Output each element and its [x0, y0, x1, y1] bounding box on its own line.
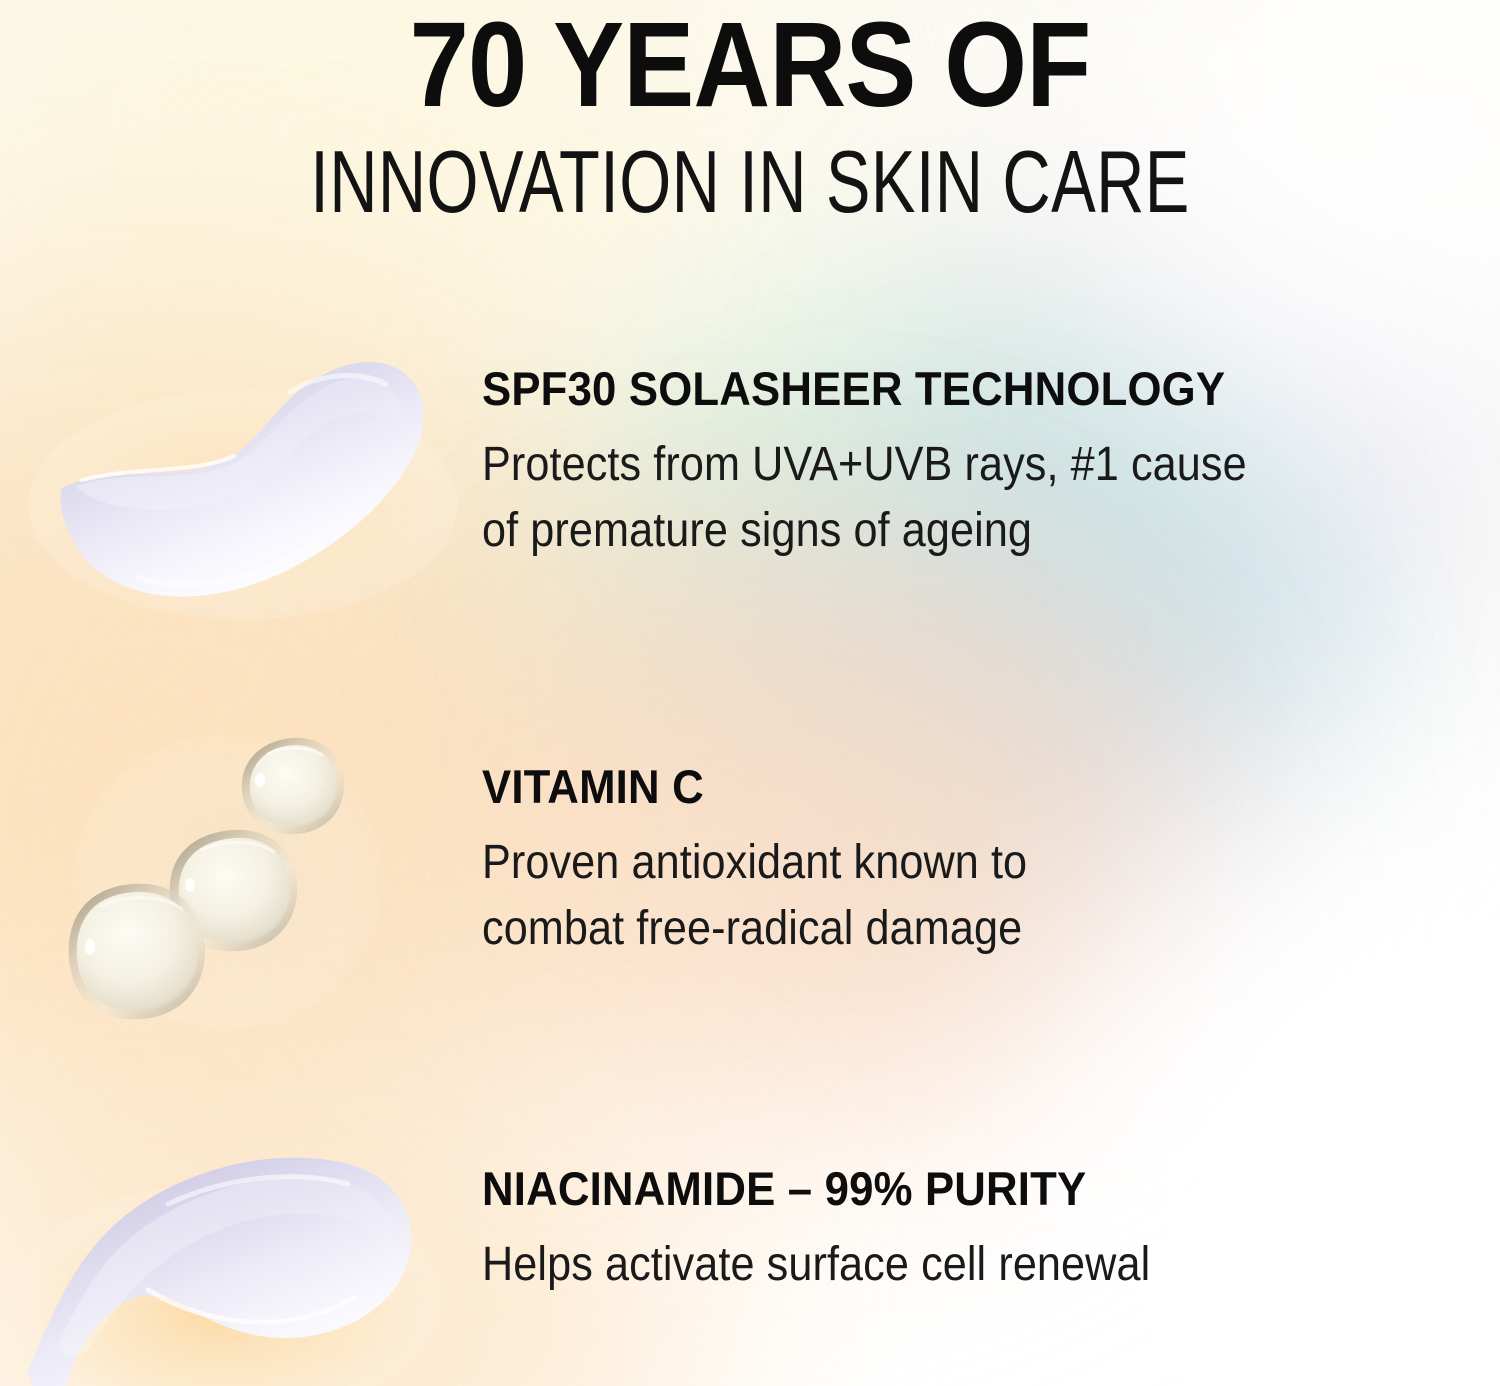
feature-desc-spf30: Protects from UVA+UVB rays, #1 cause of … — [482, 432, 1346, 564]
feature-row-1: SPF30 SOLASHEER TECHNOLOGY Protects from… — [482, 364, 1442, 564]
feature-desc-vitamin-c: Proven antioxidant known to combat free-… — [482, 830, 1292, 962]
droplet-top — [242, 738, 344, 834]
feature-desc-line: Proven antioxidant known to — [482, 830, 1292, 896]
feature-row-3: NIACINAMIDE – 99% PURITY Helps activate … — [482, 1164, 1382, 1298]
feature-desc-niacinamide: Helps activate surface cell renewal — [482, 1232, 1292, 1298]
feature-title-niacinamide: NIACINAMIDE – 99% PURITY — [482, 1164, 1319, 1214]
cream-swirl-swatch-1 — [18, 330, 458, 630]
promo-infographic: 70 YEARS OF INNOVATION IN SKIN CARE — [0, 0, 1500, 1386]
page-headline: 70 YEARS OF — [90, 0, 1410, 120]
feature-row-2: VITAMIN C Proven antioxidant known to co… — [482, 762, 1382, 962]
header-block: 70 YEARS OF INNOVATION IN SKIN CARE — [0, 0, 1500, 228]
cream-swirl-swatch-2 — [18, 1120, 458, 1386]
serum-droplets — [68, 722, 388, 1037]
feature-title-spf30: SPF30 SOLASHEER TECHNOLOGY — [482, 364, 1375, 414]
feature-desc-line: Protects from UVA+UVB rays, #1 cause — [482, 432, 1346, 498]
droplet-bottom — [69, 884, 205, 1019]
feature-desc-line: of premature signs of ageing — [482, 498, 1346, 564]
page-subheadline: INNOVATION IN SKIN CARE — [180, 136, 1320, 228]
feature-desc-line: combat free-radical damage — [482, 896, 1292, 962]
feature-desc-line: Helps activate surface cell renewal — [482, 1232, 1292, 1298]
feature-title-vitamin-c: VITAMIN C — [482, 762, 1319, 812]
